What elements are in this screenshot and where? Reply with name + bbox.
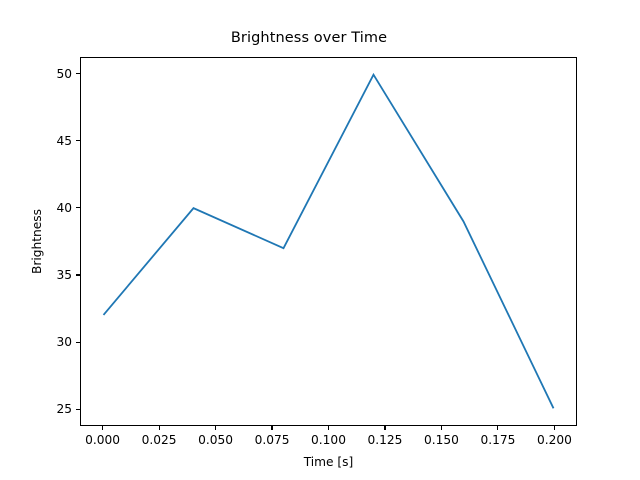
y-tick-mark xyxy=(76,207,80,208)
matplotlib-figure: Brightness over Time 0.0000.0250.0500.07… xyxy=(0,0,640,480)
plot-axes-area xyxy=(80,57,577,426)
x-tick-label: 0.075 xyxy=(255,433,290,447)
y-tick-mark xyxy=(76,140,80,141)
y-tick-label: 40 xyxy=(56,201,72,215)
x-tick-mark xyxy=(328,426,329,430)
x-tick-mark xyxy=(441,426,442,430)
x-tick-mark xyxy=(102,426,103,430)
x-tick-label: 0.000 xyxy=(85,433,120,447)
x-tick-label: 0.175 xyxy=(480,433,515,447)
x-tick-label: 0.200 xyxy=(537,433,572,447)
x-tick-mark xyxy=(271,426,272,430)
x-axis-label: Time [s] xyxy=(80,455,577,469)
x-tick-mark xyxy=(554,426,555,430)
y-tick-mark xyxy=(76,342,80,343)
y-tick-mark xyxy=(76,409,80,410)
x-tick-mark xyxy=(159,426,160,430)
brightness-line-series xyxy=(103,75,553,409)
y-tick-label: 25 xyxy=(56,402,72,416)
x-tick-label: 0.150 xyxy=(424,433,459,447)
x-tick-label: 0.100 xyxy=(311,433,346,447)
x-tick-mark xyxy=(384,426,385,430)
y-axis-label: Brightness xyxy=(30,57,46,426)
x-tick-mark xyxy=(497,426,498,430)
y-tick-label: 35 xyxy=(56,268,72,282)
y-tick-label: 50 xyxy=(56,67,72,81)
x-tick-label: 0.025 xyxy=(142,433,177,447)
y-tick-mark xyxy=(76,274,80,275)
x-tick-label: 0.125 xyxy=(368,433,403,447)
y-tick-mark xyxy=(76,73,80,74)
y-tick-label: 30 xyxy=(56,335,72,349)
y-tick-label: 45 xyxy=(56,134,72,148)
chart-title: Brightness over Time xyxy=(0,30,640,46)
line-plot-svg xyxy=(81,58,576,425)
x-tick-mark xyxy=(215,426,216,430)
x-tick-label: 0.050 xyxy=(198,433,233,447)
chart-title-text: Brightness over Time xyxy=(231,30,387,46)
